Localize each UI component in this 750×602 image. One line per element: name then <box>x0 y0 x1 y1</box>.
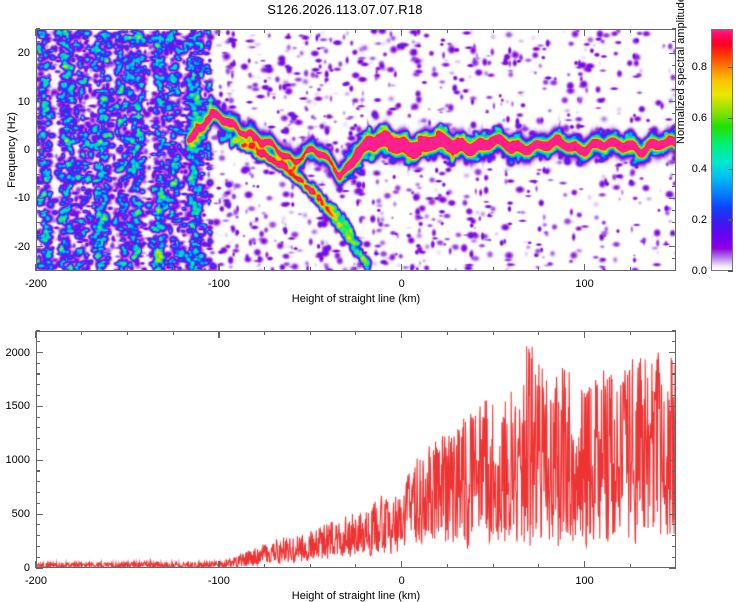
y-tick-right <box>672 174 676 175</box>
x-minor-tick <box>173 267 174 271</box>
y-tick-right <box>672 449 676 450</box>
x-minor-tick <box>538 267 539 271</box>
y-minor-tick <box>36 438 40 439</box>
x-minor-tick <box>173 564 174 568</box>
y-minor-tick <box>36 174 40 175</box>
y-tick-right <box>669 514 676 515</box>
y-minor-tick <box>36 186 40 187</box>
x-minor-tick <box>127 267 128 271</box>
x-major-tick <box>401 561 402 568</box>
x-tick-top <box>218 331 219 338</box>
y-tick-right <box>672 503 676 504</box>
x-major-tick <box>584 561 585 568</box>
spectrogram-image <box>37 30 675 270</box>
y-minor-tick <box>36 557 40 558</box>
y-tick-right <box>672 492 676 493</box>
y-minor-tick <box>36 449 40 450</box>
x-tick-top <box>35 331 36 338</box>
y-tick-right <box>672 373 676 374</box>
colorbar <box>711 29 733 271</box>
y-tick-right <box>672 222 676 223</box>
x-tick-top <box>493 331 494 335</box>
y-minor-tick <box>36 373 40 374</box>
x-major-tick <box>401 264 402 271</box>
x-tick-top <box>264 331 265 335</box>
x-tick-top <box>493 29 494 33</box>
y-minor-tick <box>36 28 40 29</box>
y-tick-right <box>669 460 676 461</box>
y-tick-right <box>672 258 676 259</box>
y-major-tick <box>36 352 43 353</box>
y-tick-label: 1500 <box>0 400 30 412</box>
x-minor-tick <box>264 564 265 568</box>
snr-trace <box>37 332 675 567</box>
y-minor-tick <box>36 113 40 114</box>
y-tick-right <box>672 395 676 396</box>
x-minor-tick <box>127 564 128 568</box>
spectrogram-plot-area <box>37 30 675 270</box>
x-minor-tick <box>538 564 539 568</box>
y-minor-tick <box>36 546 40 547</box>
x-minor-tick <box>447 564 448 568</box>
y-tick-right <box>669 352 676 353</box>
y-minor-tick <box>36 89 40 90</box>
x-major-tick <box>584 264 585 271</box>
x-minor-tick <box>310 267 311 271</box>
y-tick-right <box>672 535 676 536</box>
y-tick-right <box>672 210 676 211</box>
x-minor-tick <box>81 267 82 271</box>
x-tick-label: 0 <box>399 575 405 587</box>
x-tick-top <box>401 331 402 338</box>
y-tick-right <box>672 363 676 364</box>
y-tick-right <box>669 567 676 568</box>
y-major-tick <box>36 149 43 150</box>
y-tick-right <box>672 438 676 439</box>
y-minor-tick <box>36 427 40 428</box>
y-major-tick <box>36 198 43 199</box>
x-tick-label: -200 <box>25 575 47 587</box>
y-tick-right <box>669 198 676 199</box>
y-tick-label: 500 <box>0 508 30 520</box>
y-tick-label: -10 <box>0 192 30 204</box>
x-tick-label: 100 <box>575 278 593 290</box>
y-tick-label: -20 <box>0 241 30 253</box>
x-tick-top <box>218 29 219 36</box>
x-minor-tick <box>493 564 494 568</box>
x-tick-top <box>35 29 36 36</box>
spectrogram-xaxis-title: Height of straight line (km) <box>292 293 420 305</box>
x-tick-top <box>310 29 311 33</box>
x-tick-top <box>675 331 676 335</box>
y-tick-right <box>672 341 676 342</box>
spectrogram-yaxis-title: Frequency (Hz) <box>6 112 18 188</box>
y-tick-label: 2000 <box>0 347 30 359</box>
y-minor-tick <box>36 470 40 471</box>
y-minor-tick <box>36 524 40 525</box>
x-minor-tick <box>630 564 631 568</box>
x-tick-top <box>81 331 82 335</box>
colorbar-tick <box>728 270 733 271</box>
y-tick-label: 10 <box>0 96 30 108</box>
y-tick-right <box>672 270 676 271</box>
snr-plot-area <box>37 332 675 567</box>
y-minor-tick <box>36 330 40 331</box>
snr-xaxis-title: Height of straight line (km) <box>292 590 420 602</box>
x-minor-tick <box>355 267 356 271</box>
y-tick-label: 0 <box>0 562 30 574</box>
x-major-tick <box>218 264 219 271</box>
x-minor-tick <box>630 267 631 271</box>
y-minor-tick <box>36 162 40 163</box>
y-major-tick <box>36 246 43 247</box>
y-minor-tick <box>36 363 40 364</box>
x-tick-top <box>173 29 174 33</box>
y-minor-tick <box>36 222 40 223</box>
y-minor-tick <box>36 503 40 504</box>
x-minor-tick <box>264 267 265 271</box>
y-tick-right <box>669 406 676 407</box>
figure-root: S126.2026.113.07.07.R18 -200-1000100-20-… <box>0 0 750 600</box>
x-minor-tick <box>447 267 448 271</box>
x-tick-top <box>401 29 402 36</box>
x-tick-top <box>355 29 356 33</box>
colorbar-title: Normalized spectral amplitude <box>675 0 687 144</box>
y-tick-right <box>672 417 676 418</box>
x-tick-top <box>127 29 128 33</box>
x-tick-top <box>538 29 539 33</box>
y-major-tick <box>36 101 43 102</box>
y-minor-tick <box>36 125 40 126</box>
x-tick-top <box>447 331 448 335</box>
y-tick-right <box>672 546 676 547</box>
x-tick-top <box>310 331 311 335</box>
colorbar-tick <box>728 219 733 220</box>
y-tick-right <box>672 330 676 331</box>
x-tick-top <box>127 331 128 335</box>
y-minor-tick <box>36 270 40 271</box>
colorbar-tick-label: 0.2 <box>677 214 707 226</box>
x-tick-top <box>81 29 82 33</box>
colorbar-tick <box>728 169 733 170</box>
y-major-tick <box>36 406 43 407</box>
x-tick-top <box>355 331 356 335</box>
y-tick-right <box>669 149 676 150</box>
y-tick-right <box>672 384 676 385</box>
y-tick-right <box>669 246 676 247</box>
y-minor-tick <box>36 535 40 536</box>
x-tick-label: -200 <box>25 278 47 290</box>
x-tick-top <box>584 331 585 338</box>
x-tick-top <box>447 29 448 33</box>
spectrogram-panel <box>36 29 676 271</box>
x-tick-label: -100 <box>208 575 230 587</box>
y-tick-right <box>672 186 676 187</box>
x-minor-tick <box>81 564 82 568</box>
x-tick-top <box>173 331 174 335</box>
x-tick-top <box>584 29 585 36</box>
x-tick-top <box>264 29 265 33</box>
x-tick-top <box>538 331 539 335</box>
y-minor-tick <box>36 210 40 211</box>
x-minor-tick <box>310 564 311 568</box>
y-minor-tick <box>36 137 40 138</box>
y-minor-tick <box>36 417 40 418</box>
y-tick-right <box>672 234 676 235</box>
y-minor-tick <box>36 65 40 66</box>
y-minor-tick <box>36 77 40 78</box>
y-minor-tick <box>36 258 40 259</box>
y-minor-tick <box>36 341 40 342</box>
y-major-tick <box>36 460 43 461</box>
y-minor-tick <box>36 384 40 385</box>
x-major-tick <box>218 561 219 568</box>
x-tick-label: 0 <box>399 278 405 290</box>
y-tick-right <box>672 427 676 428</box>
colorbar-tick <box>728 67 733 68</box>
x-tick-top <box>630 29 631 33</box>
snr-panel <box>36 331 676 568</box>
colorbar-tick-label: 0.0 <box>677 265 707 277</box>
colorbar-tick-label: 0.4 <box>677 163 707 175</box>
y-tick-label: 20 <box>0 47 30 59</box>
x-tick-label: -100 <box>208 278 230 290</box>
y-minor-tick <box>36 492 40 493</box>
x-tick-label: 100 <box>575 575 593 587</box>
y-minor-tick <box>36 41 40 42</box>
y-minor-tick <box>36 481 40 482</box>
y-major-tick <box>36 514 43 515</box>
y-tick-right <box>672 481 676 482</box>
y-tick-right <box>672 557 676 558</box>
y-major-tick <box>36 53 43 54</box>
x-minor-tick <box>355 564 356 568</box>
y-minor-tick <box>36 395 40 396</box>
y-tick-right <box>672 470 676 471</box>
y-tick-right <box>672 162 676 163</box>
y-tick-label: 1000 <box>0 454 30 466</box>
y-major-tick <box>36 567 43 568</box>
x-minor-tick <box>493 267 494 271</box>
y-tick-right <box>672 524 676 525</box>
figure-title: S126.2026.113.07.07.R18 <box>0 2 690 17</box>
y-minor-tick <box>36 234 40 235</box>
x-tick-top <box>630 331 631 335</box>
colorbar-tick <box>728 118 733 119</box>
